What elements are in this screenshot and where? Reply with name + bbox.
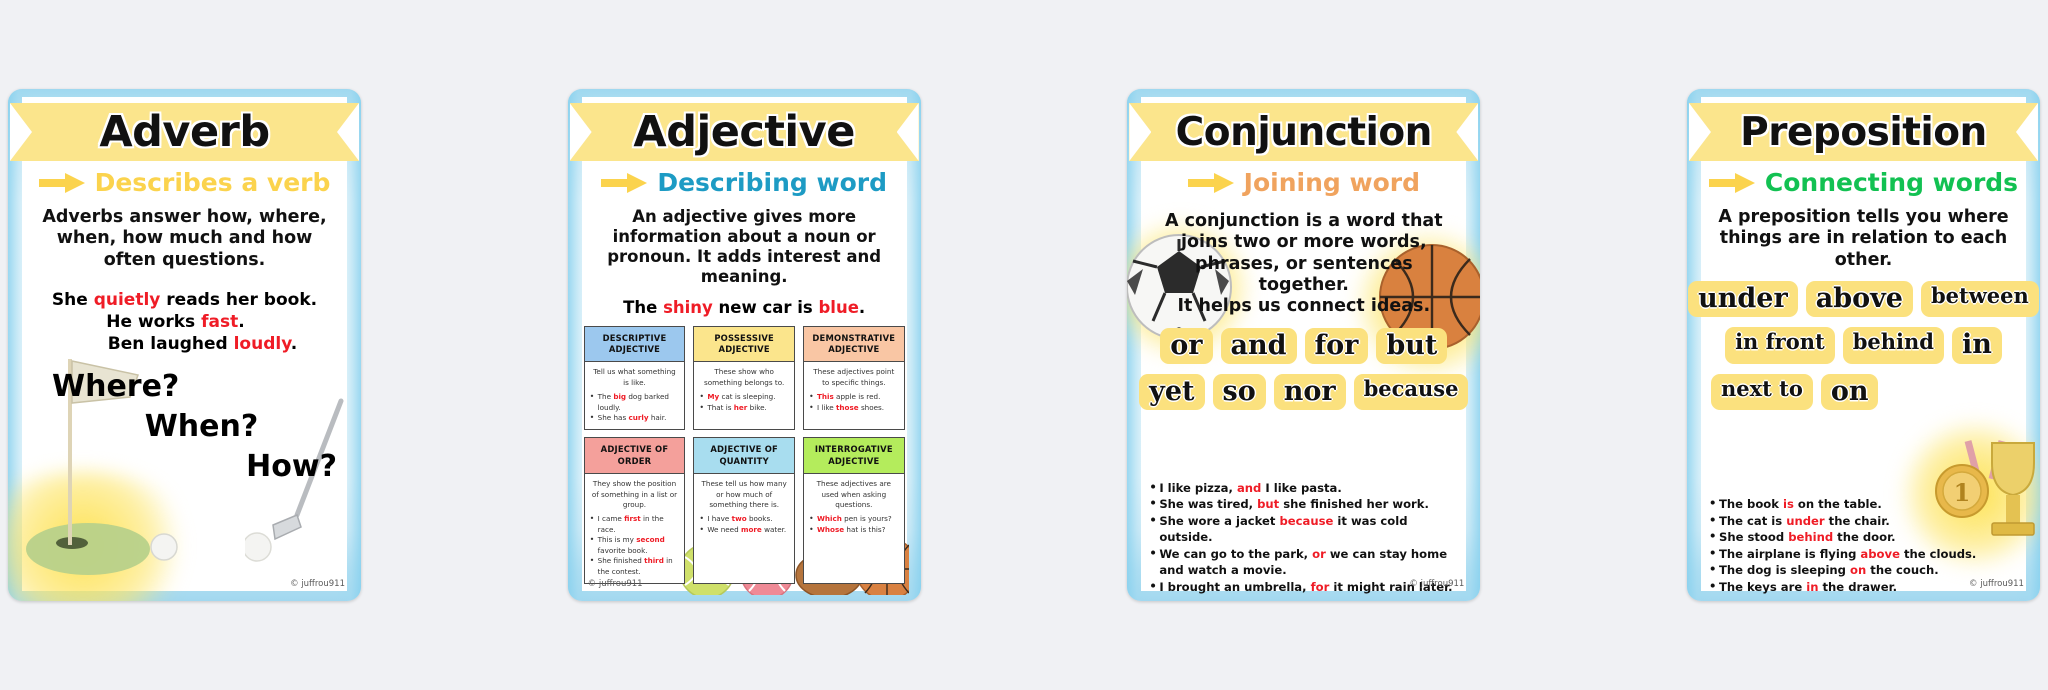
poster-board: Adverb Describes a verb Adverbs answer h… xyxy=(0,0,2048,690)
example-sentence: He works fast. xyxy=(8,311,345,333)
cell-body: These tell us how many or how much of so… xyxy=(694,474,794,583)
cell-body: They show the position of something in a… xyxy=(585,474,685,583)
poster-content: Conjunction Joining word A conjunction i… xyxy=(1127,89,1480,601)
page-title: Adjective xyxy=(633,107,854,157)
cell-header: POSSESSIVE ADJECTIVE xyxy=(694,327,794,363)
question-word: When? xyxy=(24,407,345,447)
word-tile[interactable]: so xyxy=(1213,374,1266,410)
subtitle: Connecting words xyxy=(1765,168,2018,197)
arrow-right-icon xyxy=(601,173,647,193)
subtitle: Describes a verb xyxy=(95,168,331,197)
cell-body: These show who something belongs to. My … xyxy=(694,362,794,429)
word-tile[interactable]: above xyxy=(1806,281,1913,317)
list-item: The book is on the table. xyxy=(1707,496,2024,512)
list-item: The cat is under the chair. xyxy=(1707,513,2024,529)
poster-adverb: Adverb Describes a verb Adverbs answer h… xyxy=(8,89,361,601)
table-cell: INTERROGATIVE ADJECTIVE These adjectives… xyxy=(803,437,905,584)
list-item: We can go to the park, or we can stay ho… xyxy=(1147,546,1464,579)
table-cell: POSSESSIVE ADJECTIVE These show who some… xyxy=(693,326,795,431)
conjunction-tiles-row-1: or and for but xyxy=(1143,328,1464,364)
word-tile[interactable]: next to xyxy=(1711,374,1813,410)
credit-label: © juffrou911 xyxy=(290,579,345,589)
subtitle-row: Connecting words xyxy=(1703,168,2024,197)
preposition-tiles-row-1: under above between xyxy=(1703,281,2024,317)
credit-label: © juffrou911 xyxy=(588,579,643,589)
definition-text: A conjunction is a word that joins two o… xyxy=(1143,211,1464,318)
list-item: The dog is sleeping on the couch. xyxy=(1707,562,2024,578)
title-ribbon: Adjective xyxy=(570,103,919,161)
definition-text: A preposition tells you where things are… xyxy=(1703,207,2024,271)
arrow-right-icon xyxy=(1709,173,1755,193)
example-sentence: She quietly reads her book. xyxy=(24,289,345,311)
page-title: Preposition xyxy=(1740,110,1987,155)
word-tile[interactable]: yet xyxy=(1139,374,1204,410)
definition-text: An adjective gives more information abou… xyxy=(584,207,905,288)
cell-header: INTERROGATIVE ADJECTIVE xyxy=(804,438,904,474)
list-item: She was tired, but she finished her work… xyxy=(1147,496,1464,512)
table-cell: DESCRIPTIVE ADJECTIVE Tell us what somet… xyxy=(584,326,686,431)
cell-header: ADJECTIVE OF ORDER xyxy=(585,438,685,474)
preposition-tiles-row-2: in front behind in xyxy=(1703,327,2024,363)
poster-adjective: Adjective Describing word An adjective g… xyxy=(568,89,921,601)
cell-header: ADJECTIVE OF QUANTITY xyxy=(694,438,794,474)
example-bullet-list: I like pizza, and I like pasta. She was … xyxy=(1143,480,1464,595)
word-tile[interactable]: but xyxy=(1376,328,1447,364)
poster-content: Preposition Connecting words A prepositi… xyxy=(1687,89,2040,601)
word-tile[interactable]: for xyxy=(1305,328,1369,364)
list-item: The airplane is flying above the clouds. xyxy=(1707,546,2024,562)
poster-content: Adjective Describing word An adjective g… xyxy=(568,89,921,601)
table-cell: DEMONSTRATIVE ADJECTIVE These adjectives… xyxy=(803,326,905,431)
list-item: She wore a jacket because it was cold ou… xyxy=(1147,513,1464,546)
word-tile[interactable]: and xyxy=(1221,328,1297,364)
page-title: Adverb xyxy=(99,107,269,157)
arrow-right-icon xyxy=(39,173,85,193)
example-sentences: She quietly reads her book. He works fas… xyxy=(24,289,345,355)
poster-content: Adverb Describes a verb Adverbs answer h… xyxy=(8,89,361,601)
question-word: Where? xyxy=(24,367,345,407)
cell-header: DEMONSTRATIVE ADJECTIVE xyxy=(804,327,904,363)
list-item: She stood behind the door. xyxy=(1707,529,2024,545)
definition-text: Adverbs answer how, where, when, how muc… xyxy=(24,207,345,271)
word-tile[interactable]: on xyxy=(1821,374,1879,410)
cell-body: These adjectives point to specific thing… xyxy=(804,362,904,429)
word-tile[interactable]: under xyxy=(1688,281,1798,317)
preposition-tiles-row-3: next to on xyxy=(1703,374,2024,410)
cell-body: Tell us what something is like. The big … xyxy=(585,362,685,429)
word-tile[interactable]: between xyxy=(1921,281,2039,317)
list-item: I like pizza, and I like pasta. xyxy=(1147,480,1464,496)
cell-header: DESCRIPTIVE ADJECTIVE xyxy=(585,327,685,363)
example-sentence: The shiny new car is blue. xyxy=(584,298,905,317)
subtitle: Describing word xyxy=(657,168,887,197)
subtitle-row: Describing word xyxy=(584,168,905,197)
title-ribbon: Preposition xyxy=(1689,103,2038,161)
poster-preposition: 1 Preposition Connecting words A preposi… xyxy=(1687,89,2040,601)
adjective-types-table: DESCRIPTIVE ADJECTIVE Tell us what somet… xyxy=(584,326,905,585)
credit-label: © juffrou911 xyxy=(1409,579,1464,589)
word-tile[interactable]: behind xyxy=(1843,327,1944,363)
word-tile[interactable]: in front xyxy=(1725,327,1835,363)
subtitle: Joining word xyxy=(1244,168,1420,197)
word-tile[interactable]: or xyxy=(1160,328,1212,364)
arrow-right-icon xyxy=(1188,173,1234,193)
question-words: Where? When? How? xyxy=(24,367,345,486)
question-word: How? xyxy=(24,447,345,487)
page-title: Conjunction xyxy=(1176,110,1432,155)
subtitle-row: Describes a verb xyxy=(24,168,345,197)
conjunction-tiles-row-2: yet so nor because xyxy=(1143,374,1464,410)
title-ribbon: Conjunction xyxy=(1129,103,1478,161)
subtitle-row: Joining word xyxy=(1143,168,1464,197)
cell-body: These adjectives are used when asking qu… xyxy=(804,474,904,583)
word-tile[interactable]: nor xyxy=(1274,374,1346,410)
word-tile[interactable]: in xyxy=(1952,327,2002,363)
table-cell: ADJECTIVE OF QUANTITY These tell us how … xyxy=(693,437,795,584)
credit-label: © juffrou911 xyxy=(1969,579,2024,589)
table-cell: ADJECTIVE OF ORDER They show the positio… xyxy=(584,437,686,584)
poster-conjunction: Conjunction Joining word A conjunction i… xyxy=(1127,89,1480,601)
title-ribbon: Adverb xyxy=(10,103,359,161)
example-sentence: Ben laughed loudly. xyxy=(60,333,345,355)
word-tile[interactable]: because xyxy=(1354,374,1469,410)
